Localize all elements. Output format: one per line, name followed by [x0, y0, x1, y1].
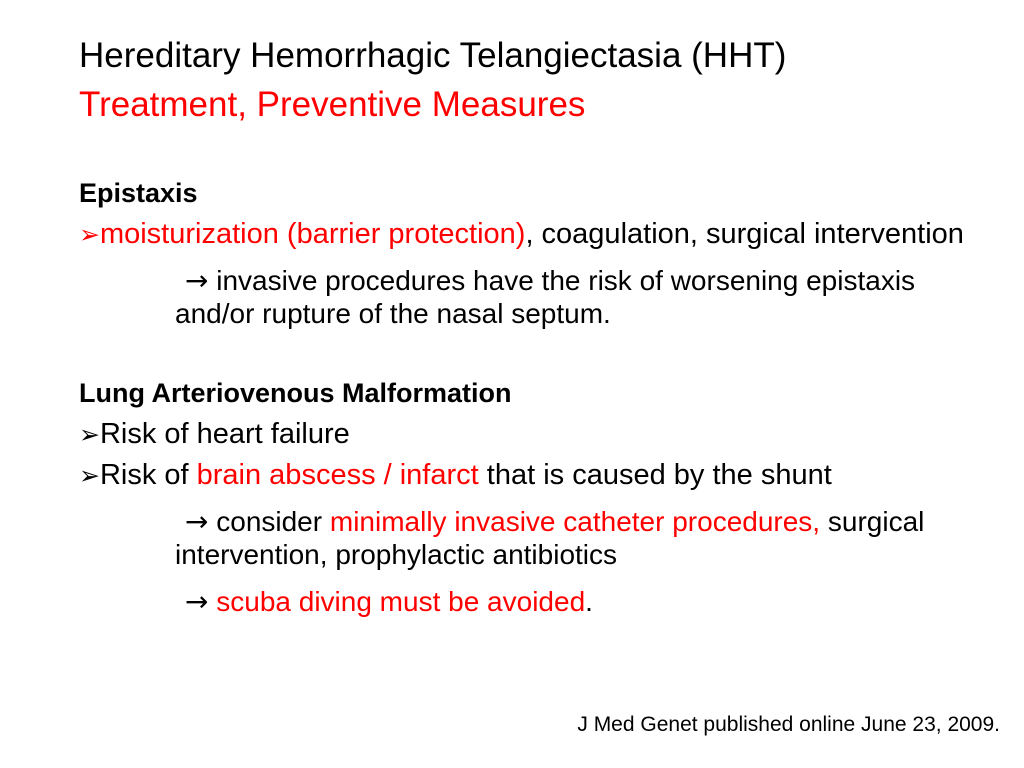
spacer: [79, 492, 984, 505]
slide-title: Hereditary Hemorrhagic Telangiectasia (H…: [79, 31, 979, 129]
right-arrow-icon: →: [185, 585, 208, 618]
section-header-epistaxis: Epistaxis: [79, 176, 984, 210]
bullet-arrow-icon: ➢: [79, 220, 100, 249]
bullet-arrow-icon: ➢: [79, 420, 100, 449]
note-scuba-diving: → scuba diving must be avoided.: [175, 585, 984, 618]
title-line-subtitle: Treatment, Preventive Measures: [79, 80, 979, 129]
note-catheter-red-text: minimally invasive catheter procedures,: [330, 506, 820, 537]
spacer: [79, 330, 984, 376]
note-epistaxis-risk: → invasive procedures have the risk of w…: [175, 264, 984, 330]
bullet-brain-abscess-lead: Risk of: [100, 459, 197, 491]
slide: Hereditary Hemorrhagic Telangiectasia (H…: [0, 0, 1024, 768]
right-arrow-icon: →: [185, 505, 208, 538]
section-header-lung-avm: Lung Arteriovenous Malformation: [79, 376, 984, 410]
note-scuba-red-text: scuba diving must be avoided: [208, 586, 585, 617]
bullet-epistaxis-red-text: moisturization (barrier protection): [100, 218, 525, 250]
title-line-primary: Hereditary Hemorrhagic Telangiectasia (H…: [79, 31, 979, 80]
bullet-epistaxis-black-text: , coagulation, surgical intervention: [525, 218, 963, 250]
right-arrow-icon: →: [185, 264, 208, 297]
spacer: [79, 251, 984, 264]
note-catheter-lead: consider: [208, 506, 329, 537]
note-epistaxis-risk-text: invasive procedures have the risk of wor…: [175, 265, 915, 329]
bullet-heart-failure-text: Risk of heart failure: [100, 418, 350, 450]
bullet-heart-failure: ➢Risk of heart failure: [79, 418, 984, 451]
note-scuba-tail: .: [585, 586, 593, 617]
bullet-arrow-icon: ➢: [79, 461, 100, 490]
source-citation: J Med Genet published online June 23, 20…: [577, 712, 1000, 738]
bullet-brain-abscess: ➢Risk of brain abscess / infarct that is…: [79, 459, 984, 492]
bullet-brain-abscess-tail: that is caused by the shunt: [479, 459, 832, 491]
bullet-brain-abscess-red-text: brain abscess / infarct: [197, 459, 479, 491]
spacer: [79, 571, 984, 585]
note-catheter-procedures: → consider minimally invasive catheter p…: [175, 505, 984, 571]
slide-body: Epistaxis ➢moisturization (barrier prote…: [79, 176, 984, 618]
bullet-epistaxis-treatments: ➢moisturization (barrier protection), co…: [79, 218, 984, 251]
